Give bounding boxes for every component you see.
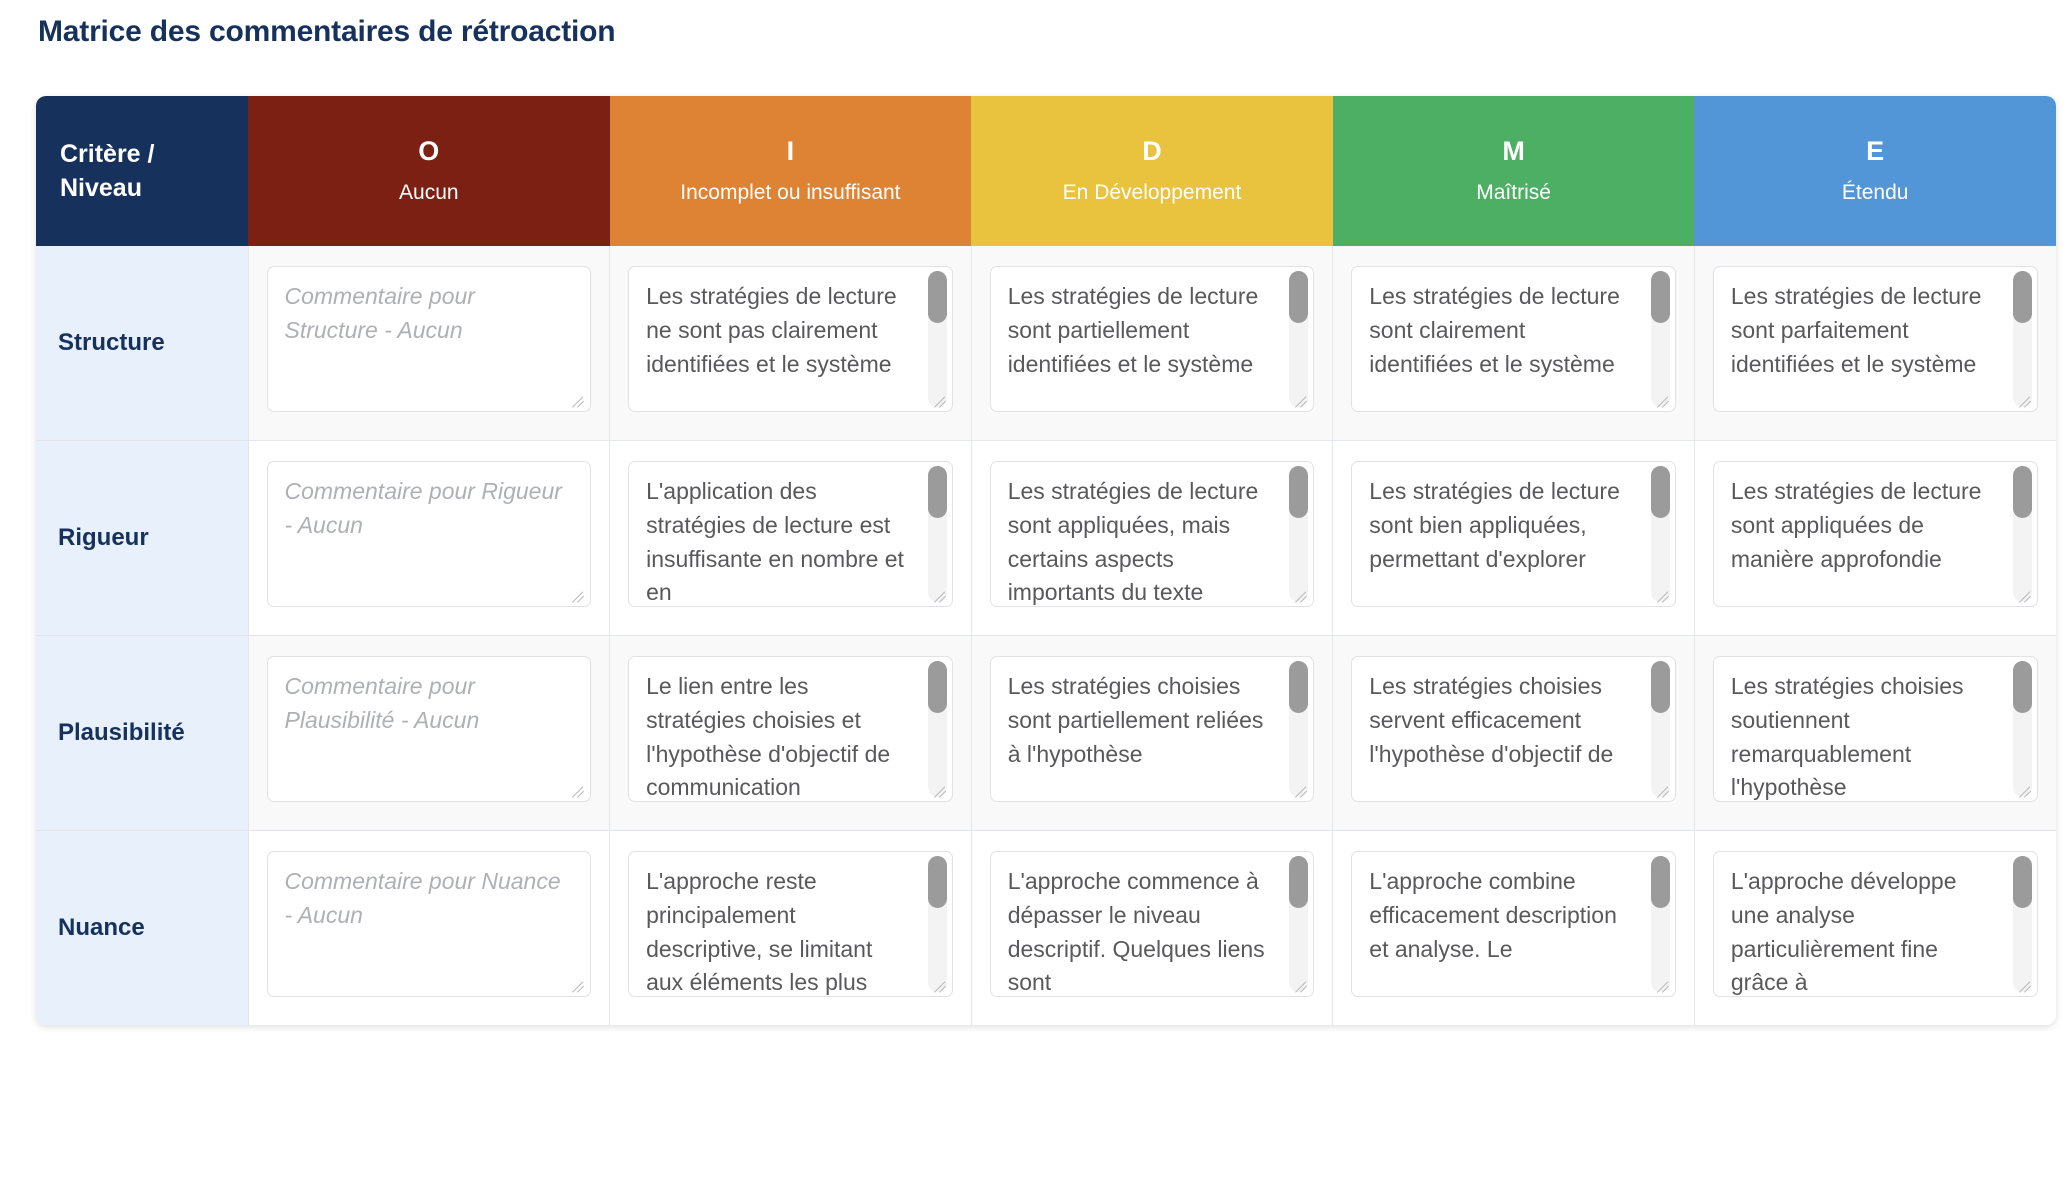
header-level-m-name: Maîtrisé	[1333, 180, 1695, 205]
comment-cell-structure-e: Les stratégies de lecture sont parfaitem…	[1694, 246, 2056, 441]
scrollbar-thumb[interactable]	[928, 856, 947, 908]
comment-placeholder: Commentaire pour Rigueur - Aucun	[285, 475, 569, 543]
comment-placeholder: Commentaire pour Structure - Aucun	[285, 280, 569, 348]
header-level-e-name: Étendu	[1694, 180, 2056, 205]
comment-value: Le lien entre les stratégies choisies et…	[646, 670, 912, 802]
header-row: Critère / Niveau O Aucun I Incomplet ou …	[36, 96, 2056, 246]
table-row: Rigueur Commentaire pour Rigueur - Aucun…	[36, 441, 2056, 636]
scrollbar[interactable]	[928, 856, 947, 992]
resize-handle-icon[interactable]	[571, 783, 587, 799]
scrollbar[interactable]	[2013, 856, 2032, 992]
scrollbar[interactable]	[2013, 271, 2032, 407]
comment-cell-structure-i: Les stratégies de lecture ne sont pas cl…	[610, 246, 972, 441]
scrollbar[interactable]	[928, 466, 947, 602]
comment-value: Les stratégies de lecture sont appliquée…	[1731, 475, 1997, 576]
comment-cell-nuance-e: L'approche développe une analyse particu…	[1694, 831, 2056, 1026]
header-level-o-code: O	[248, 137, 610, 167]
table-row: Plausibilité Commentaire pour Plausibili…	[36, 636, 2056, 831]
header-criterion-line1: Critère /	[60, 137, 248, 172]
comment-cell-structure-d: Les stratégies de lecture sont partielle…	[971, 246, 1333, 441]
comment-textarea-plausibilite-o[interactable]: Commentaire pour Plausibilité - Aucun	[267, 656, 592, 802]
scrollbar[interactable]	[1289, 271, 1308, 407]
scrollbar[interactable]	[928, 271, 947, 407]
scrollbar[interactable]	[1651, 661, 1670, 797]
comment-value: Les stratégies choisies servent efficace…	[1369, 670, 1635, 771]
resize-handle-icon[interactable]	[2018, 588, 2034, 604]
resize-handle-icon[interactable]	[1656, 393, 1672, 409]
criterion-label-plausibilite: Plausibilité	[36, 636, 248, 831]
comment-textarea-rigueur-i[interactable]: L'application des stratégies de lecture …	[628, 461, 953, 607]
comment-value: L'application des stratégies de lecture …	[646, 475, 912, 607]
comment-cell-nuance-m: L'approche combine efficacement descript…	[1333, 831, 1695, 1026]
page-root: Matrice des commentaires de rétroaction …	[0, 0, 2072, 1025]
criterion-label-rigueur: Rigueur	[36, 441, 248, 636]
comment-textarea-plausibilite-m[interactable]: Les stratégies choisies servent efficace…	[1351, 656, 1676, 802]
scrollbar[interactable]	[1289, 856, 1308, 992]
comment-placeholder: Commentaire pour Plausibilité - Aucun	[285, 670, 569, 738]
comment-cell-plausibilite-d: Les stratégies choisies sont partielleme…	[971, 636, 1333, 831]
comment-cell-nuance-d: L'approche commence à dépasser le niveau…	[971, 831, 1333, 1026]
scrollbar-thumb[interactable]	[928, 661, 947, 713]
comment-textarea-structure-e[interactable]: Les stratégies de lecture sont parfaitem…	[1713, 266, 2038, 412]
comment-value: L'approche combine efficacement descript…	[1369, 865, 1635, 966]
comment-cell-nuance-o: Commentaire pour Nuance - Aucun	[248, 831, 610, 1026]
comment-value: Les stratégies choisies sont partielleme…	[1008, 670, 1274, 771]
resize-handle-icon[interactable]	[1294, 783, 1310, 799]
header-level-o: O Aucun	[248, 96, 610, 246]
resize-handle-icon[interactable]	[1656, 588, 1672, 604]
comment-value: L'approche développe une analyse particu…	[1731, 865, 1997, 997]
comment-value: L'approche commence à dépasser le niveau…	[1008, 865, 1274, 997]
comment-cell-plausibilite-i: Le lien entre les stratégies choisies et…	[610, 636, 972, 831]
comment-value: Les stratégies de lecture sont appliquée…	[1008, 475, 1274, 607]
feedback-matrix: Critère / Niveau O Aucun I Incomplet ou …	[36, 96, 2056, 1025]
comment-cell-structure-m: Les stratégies de lecture sont clairemen…	[1333, 246, 1695, 441]
comment-value: Les stratégies de lecture sont partielle…	[1008, 280, 1274, 381]
comment-value: Les stratégies de lecture sont bien appl…	[1369, 475, 1635, 576]
scrollbar[interactable]	[1289, 661, 1308, 797]
header-level-d: D En Développement	[971, 96, 1333, 246]
resize-handle-icon[interactable]	[2018, 393, 2034, 409]
scrollbar-thumb[interactable]	[1651, 856, 1670, 908]
table-row: Structure Commentaire pour Structure - A…	[36, 246, 2056, 441]
comment-cell-rigueur-o: Commentaire pour Rigueur - Aucun	[248, 441, 610, 636]
comment-textarea-structure-i[interactable]: Les stratégies de lecture ne sont pas cl…	[628, 266, 953, 412]
comment-textarea-plausibilite-e[interactable]: Les stratégies choisies soutiennent rema…	[1713, 656, 2038, 802]
comment-textarea-rigueur-d[interactable]: Les stratégies de lecture sont appliquée…	[990, 461, 1315, 607]
comment-cell-plausibilite-e: Les stratégies choisies soutiennent rema…	[1694, 636, 2056, 831]
resize-handle-icon[interactable]	[1656, 783, 1672, 799]
resize-handle-icon[interactable]	[1294, 393, 1310, 409]
header-level-i-code: I	[610, 137, 972, 167]
resize-handle-icon[interactable]	[571, 978, 587, 994]
scrollbar-thumb[interactable]	[2013, 856, 2032, 908]
comment-cell-rigueur-i: L'application des stratégies de lecture …	[610, 441, 972, 636]
scrollbar[interactable]	[1651, 856, 1670, 992]
comment-textarea-rigueur-m[interactable]: Les stratégies de lecture sont bien appl…	[1351, 461, 1676, 607]
scrollbar-thumb[interactable]	[928, 271, 947, 323]
matrix-body: Structure Commentaire pour Structure - A…	[36, 246, 2056, 1025]
comment-value: L'approche reste principalement descript…	[646, 865, 912, 997]
comment-textarea-plausibilite-i[interactable]: Le lien entre les stratégies choisies et…	[628, 656, 953, 802]
scrollbar-thumb[interactable]	[1651, 661, 1670, 713]
criterion-label-structure: Structure	[36, 246, 248, 441]
resize-handle-icon[interactable]	[1656, 978, 1672, 994]
comment-textarea-structure-d[interactable]: Les stratégies de lecture sont partielle…	[990, 266, 1315, 412]
resize-handle-icon[interactable]	[1294, 978, 1310, 994]
scrollbar-thumb[interactable]	[2013, 661, 2032, 713]
header-level-m-code: M	[1333, 137, 1695, 167]
matrix-header: Critère / Niveau O Aucun I Incomplet ou …	[36, 96, 2056, 246]
comment-cell-rigueur-d: Les stratégies de lecture sont appliquée…	[971, 441, 1333, 636]
comment-textarea-nuance-o[interactable]: Commentaire pour Nuance - Aucun	[267, 851, 592, 997]
comment-value: Les stratégies de lecture ne sont pas cl…	[646, 280, 912, 381]
scrollbar[interactable]	[1289, 466, 1308, 602]
comment-cell-rigueur-e: Les stratégies de lecture sont appliquée…	[1694, 441, 2056, 636]
header-level-d-name: En Développement	[971, 180, 1333, 205]
comment-cell-plausibilite-m: Les stratégies choisies servent efficace…	[1333, 636, 1695, 831]
resize-handle-icon[interactable]	[571, 393, 587, 409]
comment-textarea-structure-o[interactable]: Commentaire pour Structure - Aucun	[267, 266, 592, 412]
page-title: Matrice des commentaires de rétroaction	[38, 14, 2036, 50]
comment-textarea-rigueur-e[interactable]: Les stratégies de lecture sont appliquée…	[1713, 461, 2038, 607]
comment-value: Les stratégies de lecture sont parfaitem…	[1731, 280, 1997, 381]
comment-textarea-rigueur-o[interactable]: Commentaire pour Rigueur - Aucun	[267, 461, 592, 607]
header-level-i: I Incomplet ou insuffisant	[610, 96, 972, 246]
resize-handle-icon[interactable]	[933, 783, 949, 799]
header-criterion-line2: Niveau	[60, 171, 248, 206]
comment-cell-rigueur-m: Les stratégies de lecture sont bien appl…	[1333, 441, 1695, 636]
scrollbar-thumb[interactable]	[928, 466, 947, 518]
header-level-e-code: E	[1694, 137, 2056, 167]
header-criterion: Critère / Niveau	[36, 96, 248, 246]
comment-textarea-nuance-d[interactable]: L'approche commence à dépasser le niveau…	[990, 851, 1315, 997]
comment-textarea-nuance-m[interactable]: L'approche combine efficacement descript…	[1351, 851, 1676, 997]
scrollbar[interactable]	[1651, 466, 1670, 602]
scrollbar[interactable]	[2013, 661, 2032, 797]
comment-textarea-plausibilite-d[interactable]: Les stratégies choisies sont partielleme…	[990, 656, 1315, 802]
resize-handle-icon[interactable]	[1294, 588, 1310, 604]
header-level-m: M Maîtrisé	[1333, 96, 1695, 246]
comment-cell-plausibilite-o: Commentaire pour Plausibilité - Aucun	[248, 636, 610, 831]
scrollbar-thumb[interactable]	[2013, 466, 2032, 518]
comment-placeholder: Commentaire pour Nuance - Aucun	[285, 865, 569, 933]
scrollbar-thumb[interactable]	[2013, 271, 2032, 323]
header-level-i-name: Incomplet ou insuffisant	[610, 180, 972, 205]
scrollbar-thumb[interactable]	[1651, 466, 1670, 518]
scrollbar-thumb[interactable]	[1289, 661, 1308, 713]
comment-textarea-nuance-e[interactable]: L'approche développe une analyse particu…	[1713, 851, 2038, 997]
comment-cell-structure-o: Commentaire pour Structure - Aucun	[248, 246, 610, 441]
resize-handle-icon[interactable]	[2018, 783, 2034, 799]
scrollbar-thumb[interactable]	[1289, 856, 1308, 908]
comment-value: Les stratégies de lecture sont clairemen…	[1369, 280, 1635, 381]
matrix-table: Critère / Niveau O Aucun I Incomplet ou …	[36, 96, 2056, 1025]
resize-handle-icon[interactable]	[933, 588, 949, 604]
header-level-e: E Étendu	[1694, 96, 2056, 246]
scrollbar[interactable]	[928, 661, 947, 797]
scrollbar-thumb[interactable]	[1651, 271, 1670, 323]
comment-textarea-structure-m[interactable]: Les stratégies de lecture sont clairemen…	[1351, 266, 1676, 412]
scrollbar-thumb[interactable]	[1289, 466, 1308, 518]
resize-handle-icon[interactable]	[571, 588, 587, 604]
comment-value: Les stratégies choisies soutiennent rema…	[1731, 670, 1997, 802]
criterion-label-nuance: Nuance	[36, 831, 248, 1026]
header-level-o-name: Aucun	[248, 180, 610, 205]
scrollbar[interactable]	[1651, 271, 1670, 407]
comment-textarea-nuance-i[interactable]: L'approche reste principalement descript…	[628, 851, 953, 997]
table-row: Nuance Commentaire pour Nuance - Aucun L…	[36, 831, 2056, 1026]
resize-handle-icon[interactable]	[933, 393, 949, 409]
scrollbar[interactable]	[2013, 466, 2032, 602]
resize-handle-icon[interactable]	[933, 978, 949, 994]
comment-cell-nuance-i: L'approche reste principalement descript…	[610, 831, 972, 1026]
scrollbar-thumb[interactable]	[1289, 271, 1308, 323]
resize-handle-icon[interactable]	[2018, 978, 2034, 994]
header-level-d-code: D	[971, 137, 1333, 167]
